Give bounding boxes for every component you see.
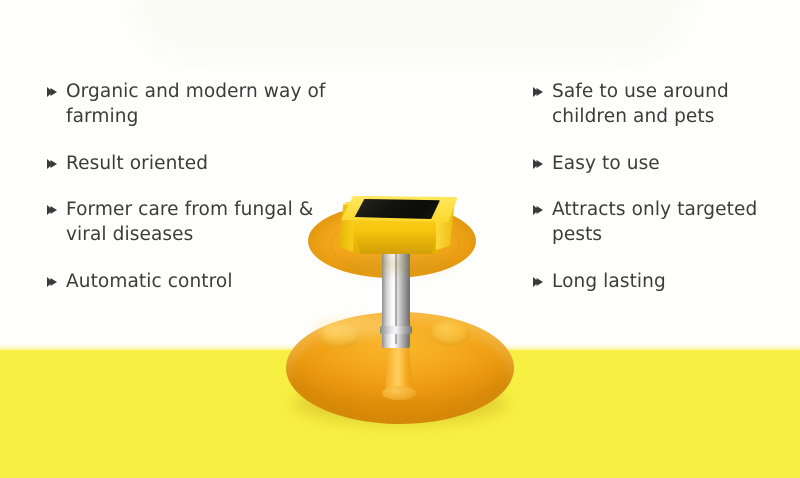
chrome-stem-collar	[380, 326, 412, 334]
solar-panel-icon	[352, 199, 440, 219]
feature-list-right: Safe to use around children and pets Eas…	[532, 80, 794, 317]
feature-text-attracts-targeted: Attracts only targeted pests	[552, 198, 794, 248]
feature-text-automatic-control: Automatic control	[66, 270, 233, 295]
cone-base-ellipse	[382, 386, 416, 400]
feature-text-safe-children-pets: Safe to use around children and pets	[552, 80, 794, 130]
list-item: Safe to use around children and pets	[532, 80, 794, 130]
arrowhead-bullet-icon	[532, 277, 546, 287]
list-item: Result oriented	[46, 152, 346, 177]
arrowhead-bullet-icon	[46, 87, 60, 97]
housing-front-shading	[344, 230, 448, 254]
list-item: Long lasting	[532, 270, 794, 295]
top-faint-shape	[130, 0, 690, 60]
head-under-shadow	[340, 256, 452, 272]
arrowhead-bullet-icon	[46, 159, 60, 169]
feature-text-result-oriented: Result oriented	[66, 152, 208, 177]
feature-text-organic-modern-farming: Organic and modern way of farming	[66, 80, 346, 130]
arrowhead-bullet-icon	[46, 277, 60, 287]
arrowhead-bullet-icon	[532, 159, 546, 169]
feature-slide: Organic and modern way of farming Result…	[0, 0, 800, 478]
dish-lobe-right	[430, 320, 470, 346]
product-image-solar-pest-trap	[278, 190, 522, 438]
list-item: Easy to use	[532, 152, 794, 177]
arrowhead-bullet-icon	[46, 205, 60, 215]
arrowhead-bullet-icon	[532, 87, 546, 97]
list-item: Attracts only targeted pests	[532, 198, 794, 248]
feature-text-long-lasting: Long lasting	[552, 270, 666, 295]
list-item: Organic and modern way of farming	[46, 80, 346, 130]
arrowhead-bullet-icon	[532, 205, 546, 215]
feature-text-easy-to-use: Easy to use	[552, 152, 660, 177]
